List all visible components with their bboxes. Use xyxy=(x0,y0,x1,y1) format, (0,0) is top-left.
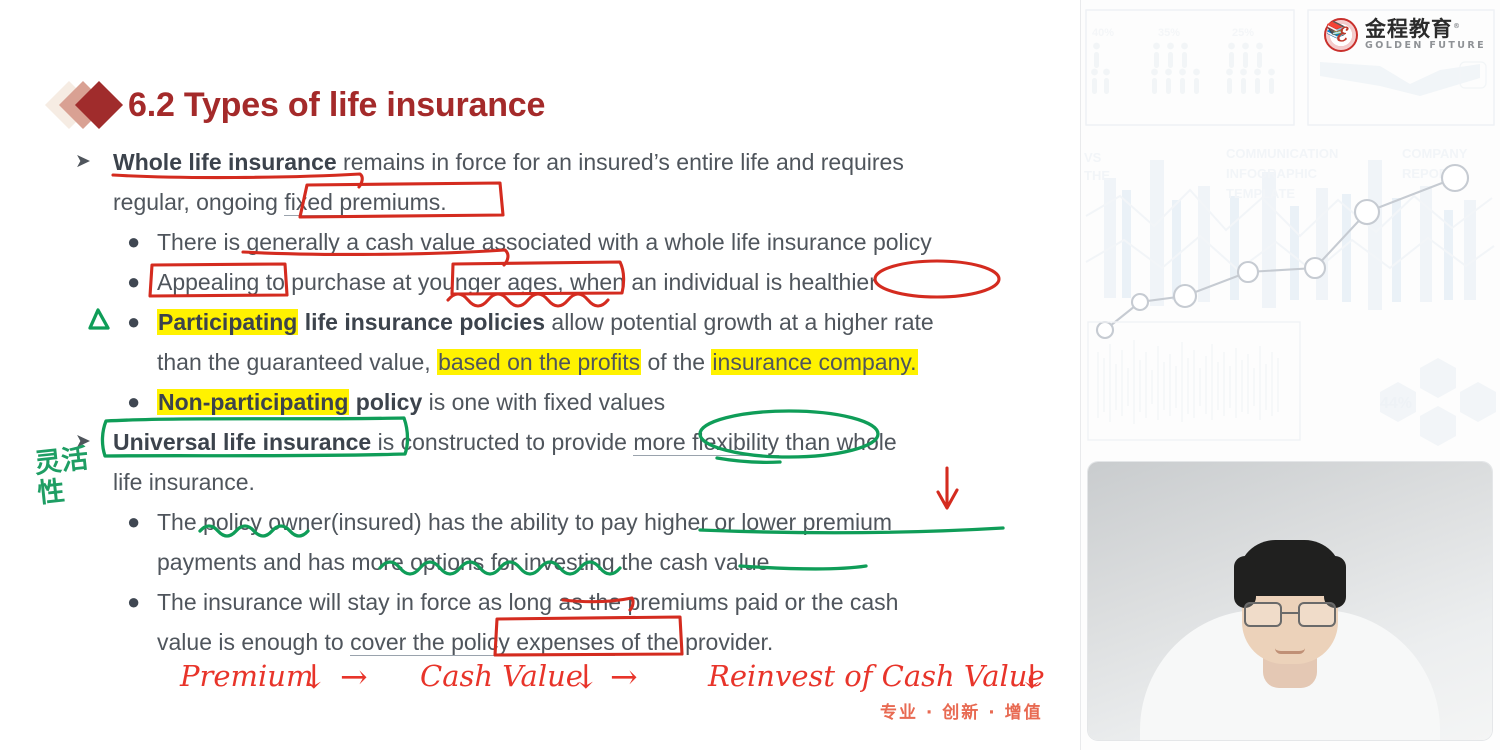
term-cover-policy-expenses: cover the policy expenses xyxy=(350,629,615,656)
dot-bullet-icon: ● xyxy=(127,582,140,622)
text-policy-owner: The policy owner(insured) has the abilit… xyxy=(157,509,892,535)
bullet-appealing: ● Appealing to purchase at younger ages,… xyxy=(157,262,1060,302)
svg-text:40%: 40% xyxy=(1092,27,1114,39)
text-of-the: of the xyxy=(641,349,711,375)
svg-text:35%: 35% xyxy=(1158,27,1180,39)
text-constructed: is constructed to provide xyxy=(371,429,633,455)
hw-cash-value: Cash Value xyxy=(420,659,583,693)
svg-text:VS: VS xyxy=(1084,150,1102,165)
text-allow-growth: allow potential growth at a higher rate xyxy=(545,309,934,335)
text-whole-life-rest: remains in force for an insured’s entire… xyxy=(337,149,904,175)
bullet-stay-in-force-line1: ● The insurance will stay in force as lo… xyxy=(157,582,1060,622)
svg-text:TEMPLATE: TEMPLATE xyxy=(1226,186,1295,201)
term-whole-life-insurance: Whole life insurance xyxy=(113,149,337,175)
svg-text:COMMUNICATION: COMMUNICATION xyxy=(1226,146,1338,161)
svg-text:25%: 25% xyxy=(1232,27,1254,39)
diamond-bullet-icon xyxy=(52,78,124,132)
instructor-glasses-icon xyxy=(1244,602,1336,628)
right-panel: 40%35%25% xyxy=(1080,0,1500,750)
term-more-flexibility: more flexibility xyxy=(633,429,779,456)
dot-bullet-icon: ● xyxy=(127,382,140,422)
text-based-on-profits: based on the profits xyxy=(437,349,641,375)
logo-monogram: ℰ xyxy=(1326,20,1356,50)
bullet-whole-life-line2: regular, ongoing fixed premiums. xyxy=(113,182,1060,222)
text-stay-in-force: The insurance will stay in force as long… xyxy=(157,589,898,615)
bullet-policy-owner-line2: payments and has more options for invest… xyxy=(157,542,1060,582)
text-policy: policy xyxy=(349,389,422,415)
bullet-universal-line2: life insurance. xyxy=(113,462,1060,502)
instructor-video-tile[interactable] xyxy=(1088,462,1492,740)
bullet-policy-owner-line1: ● The policy owner(insured) has the abil… xyxy=(157,502,1060,542)
text-life-insurance: life insurance. xyxy=(113,469,255,495)
registered-mark: ® xyxy=(1453,22,1461,30)
text-fixed-values: is one with fixed values xyxy=(422,389,665,415)
dot-bullet-icon: ● xyxy=(127,502,140,542)
term-non-participating: Non-participating xyxy=(157,389,349,415)
brand-tagline: 专业 · 创新 · 增值 xyxy=(880,698,1043,723)
bullet-participating-line2: than the guaranteed value, based on the … xyxy=(157,342,1060,382)
hw-connector-2: → xyxy=(610,657,638,696)
term-universal-life-insurance: Universal life insurance xyxy=(113,429,371,455)
svg-text:INFOGRAPHIC: INFOGRAPHIC xyxy=(1226,166,1318,181)
logo-seal-icon: ℰ xyxy=(1324,18,1358,52)
bullet-whole-life-line1: ➤ Whole life insurance remains in force … xyxy=(113,142,1060,182)
hw-reinvest: Reinvest of Cash Value xyxy=(708,659,1045,693)
text-than-whole: than whole xyxy=(779,429,897,455)
bullet-non-participating: ● Non-participating policy is one with f… xyxy=(157,382,1060,422)
logo-name-cn: 金程教育® xyxy=(1365,19,1486,40)
hw-premium: Premium xyxy=(180,659,314,693)
logo-text: 金程教育® GOLDEN FUTURE xyxy=(1365,19,1486,50)
svg-text:THE: THE xyxy=(1084,168,1110,183)
text-appealing: Appealing to purchase at younger ages, w… xyxy=(157,269,877,295)
instructor-hair xyxy=(1238,540,1342,596)
text-insurance-company: insurance company. xyxy=(711,349,917,375)
svg-text:COMPANY: COMPANY xyxy=(1402,146,1468,161)
hw-arrow-down-2: ↓ xyxy=(572,657,600,696)
bullet-participating-line1: ● Participating life insurance policies … xyxy=(157,302,1060,342)
hw-arrow-down-1: ↓ xyxy=(300,657,328,696)
svg-text:44%: 44% xyxy=(1380,395,1412,412)
text-life-insurance-policies: life insurance policies xyxy=(298,309,545,335)
text-regular-ongoing: regular, ongoing xyxy=(113,189,284,215)
slide-stage: 6.2 Types of life insurance ➤ Whole life… xyxy=(0,0,1500,750)
text-than-guaranteed: than the guaranteed value, xyxy=(157,349,437,375)
presentation-slide: 6.2 Types of life insurance ➤ Whole life… xyxy=(0,0,1080,750)
text-value-enough: value is enough to xyxy=(157,629,350,655)
bullet-universal-line1: ➤ Universal life insurance is constructe… xyxy=(113,422,1060,462)
page-title: 6.2 Types of life insurance xyxy=(128,86,545,125)
hw-arrow-down-3: ↓ xyxy=(1018,657,1046,696)
instructor-mouth xyxy=(1275,648,1305,654)
bullet-cash-value: ● There is generally a cash value associ… xyxy=(157,222,1060,262)
dot-bullet-icon: ● xyxy=(127,222,140,262)
decorative-infographic: 40%35%25% xyxy=(1080,0,1500,452)
text-of-provider: of the provider. xyxy=(615,629,774,655)
logo-name-en: GOLDEN FUTURE xyxy=(1365,41,1486,51)
dot-bullet-icon: ● xyxy=(127,262,140,302)
text-payments-options: payments and has more options for invest… xyxy=(157,549,769,575)
term-fixed-premiums: fixed premiums. xyxy=(284,189,446,216)
slide-body: ➤ Whole life insurance remains in force … xyxy=(75,142,1060,662)
slide-title-row: 6.2 Types of life insurance xyxy=(52,78,545,132)
term-participating: Participating xyxy=(157,309,298,335)
hw-connector-1: → xyxy=(340,657,368,696)
arrow-bullet-icon: ➤ xyxy=(75,142,91,182)
text-cash-value: There is generally a cash value associat… xyxy=(157,229,932,255)
brand-logo: ℰ 金程教育® GOLDEN FUTURE xyxy=(1324,18,1486,52)
margin-note-chinese: 灵活性 xyxy=(33,443,109,510)
dot-bullet-icon: ● xyxy=(127,302,140,342)
